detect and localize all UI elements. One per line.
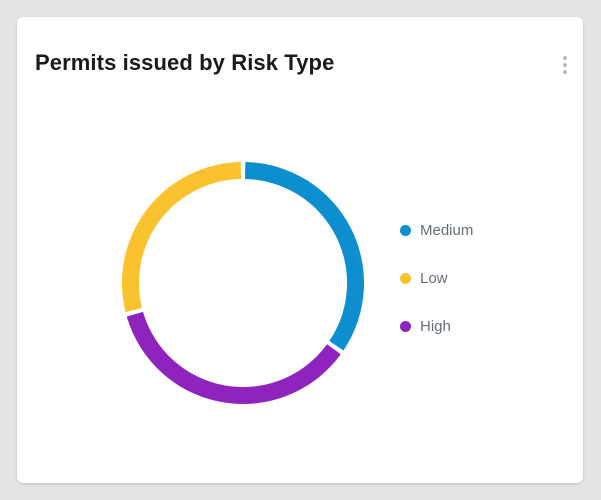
legend-item-label: Medium: [420, 222, 473, 239]
donut-chart: MediumLowHigh: [17, 17, 583, 483]
donut-slice-high[interactable]: [127, 312, 341, 404]
legend-item-high[interactable]: High: [400, 302, 550, 350]
legend-item-label: High: [420, 318, 451, 335]
legend-swatch-icon: [400, 273, 411, 284]
chart-card: Permits issued by Risk Type MediumLowHig…: [17, 17, 583, 483]
donut-slice-low[interactable]: [122, 162, 241, 312]
legend-swatch-icon: [400, 225, 411, 236]
chart-legend: MediumLowHigh: [400, 206, 550, 350]
donut-slice-group: [122, 162, 364, 404]
legend-swatch-icon: [400, 321, 411, 332]
donut-chart-svg: [105, 145, 381, 421]
legend-item-medium[interactable]: Medium: [400, 206, 550, 254]
legend-item-label: Low: [420, 270, 448, 287]
donut-slice-medium[interactable]: [245, 162, 364, 350]
legend-item-low[interactable]: Low: [400, 254, 550, 302]
